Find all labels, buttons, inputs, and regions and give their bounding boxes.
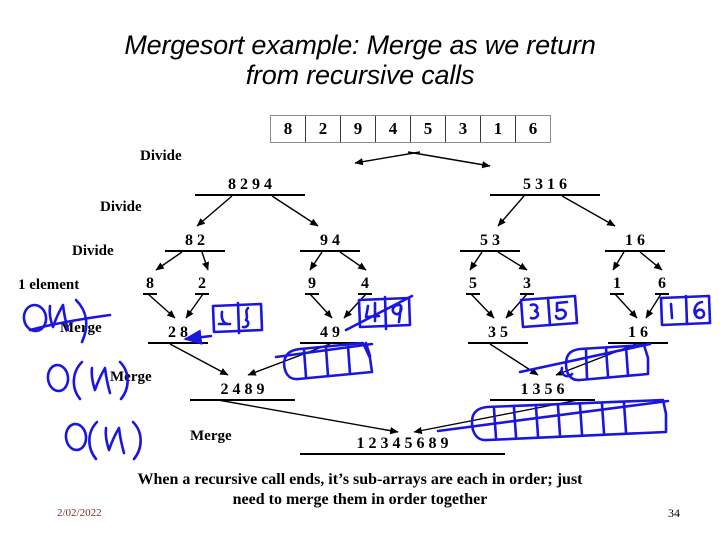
slide-caption: When a recursive call ends, it’s sub-arr…	[60, 470, 660, 510]
tree-node-divide2: 1 6	[605, 232, 665, 252]
array-cell: 1	[481, 116, 516, 142]
array-cell: 4	[376, 116, 411, 142]
tree-node-merge1: 4 9	[300, 324, 360, 344]
tree-node-merge2: 2 4 8 9	[190, 381, 295, 401]
tree-node-merge1: 3 5	[468, 324, 528, 344]
caption-line1: When a recursive call ends, it’s sub-arr…	[60, 470, 660, 490]
tree-node-single: 3	[520, 275, 534, 295]
tree-node-single: 8	[143, 275, 157, 295]
stage-label-divide: Divide	[100, 199, 142, 216]
array-cell: 3	[446, 116, 481, 142]
ink-empty-grid-left	[276, 343, 372, 379]
array-cell: 5	[411, 116, 446, 142]
array-cell: 6	[516, 116, 550, 142]
tree-node-divide1: 5 3 1 6	[490, 176, 600, 196]
slide-canvas: Mergesort example: Merge as we return fr…	[0, 0, 720, 540]
stage-label-merge: Merge	[110, 369, 152, 386]
tree-node-divide2: 8 2	[165, 232, 225, 252]
tree-node-merge1: 1 6	[608, 324, 668, 344]
tree-node-single: 4	[358, 275, 372, 295]
tree-node-divide2: 5 3	[460, 232, 520, 252]
array-cell: 9	[341, 116, 376, 142]
page-title-line2: from recursive calls	[0, 60, 720, 90]
input-array: 82945316	[270, 115, 551, 143]
stage-label-merge: Merge	[60, 320, 102, 337]
ink-complexity-3	[65, 422, 141, 459]
tree-node-merge2: 1 3 5 6	[490, 381, 595, 401]
tree-node-single: 2	[195, 275, 209, 295]
tree-node-single: 6	[655, 275, 669, 295]
ink-box-3-5	[521, 296, 577, 327]
tree-node-merge3: 1 2 3 4 5 6 8 9	[300, 435, 505, 455]
ink-box-1-6	[661, 296, 710, 325]
stage-label-divide: Divide	[72, 243, 114, 260]
tree-node-single: 5	[466, 275, 480, 295]
footer-date: 2/02/2022	[57, 507, 102, 519]
stage-label-divide: Divide	[140, 148, 182, 165]
tree-node-single: 9	[305, 275, 319, 295]
stage-label-merge: Merge	[190, 428, 232, 445]
page-title: Mergesort example: Merge as we return fr…	[0, 30, 720, 90]
caption-line2: need to merge them in order together	[60, 490, 660, 510]
array-cell: 2	[306, 116, 341, 142]
tree-node-single: 1	[610, 275, 624, 295]
ink-empty-grid-right	[520, 344, 650, 380]
tree-node-merge1: 2 8	[148, 324, 208, 344]
page-title-line1: Mergesort example: Merge as we return	[0, 30, 720, 60]
tree-node-divide1: 8 2 9 4	[195, 176, 305, 196]
array-cell: 8	[271, 116, 306, 142]
tree-node-divide2: 9 4	[300, 232, 360, 252]
stage-label-1-element: 1 element	[18, 277, 79, 294]
footer-page-number: 34	[668, 506, 680, 521]
